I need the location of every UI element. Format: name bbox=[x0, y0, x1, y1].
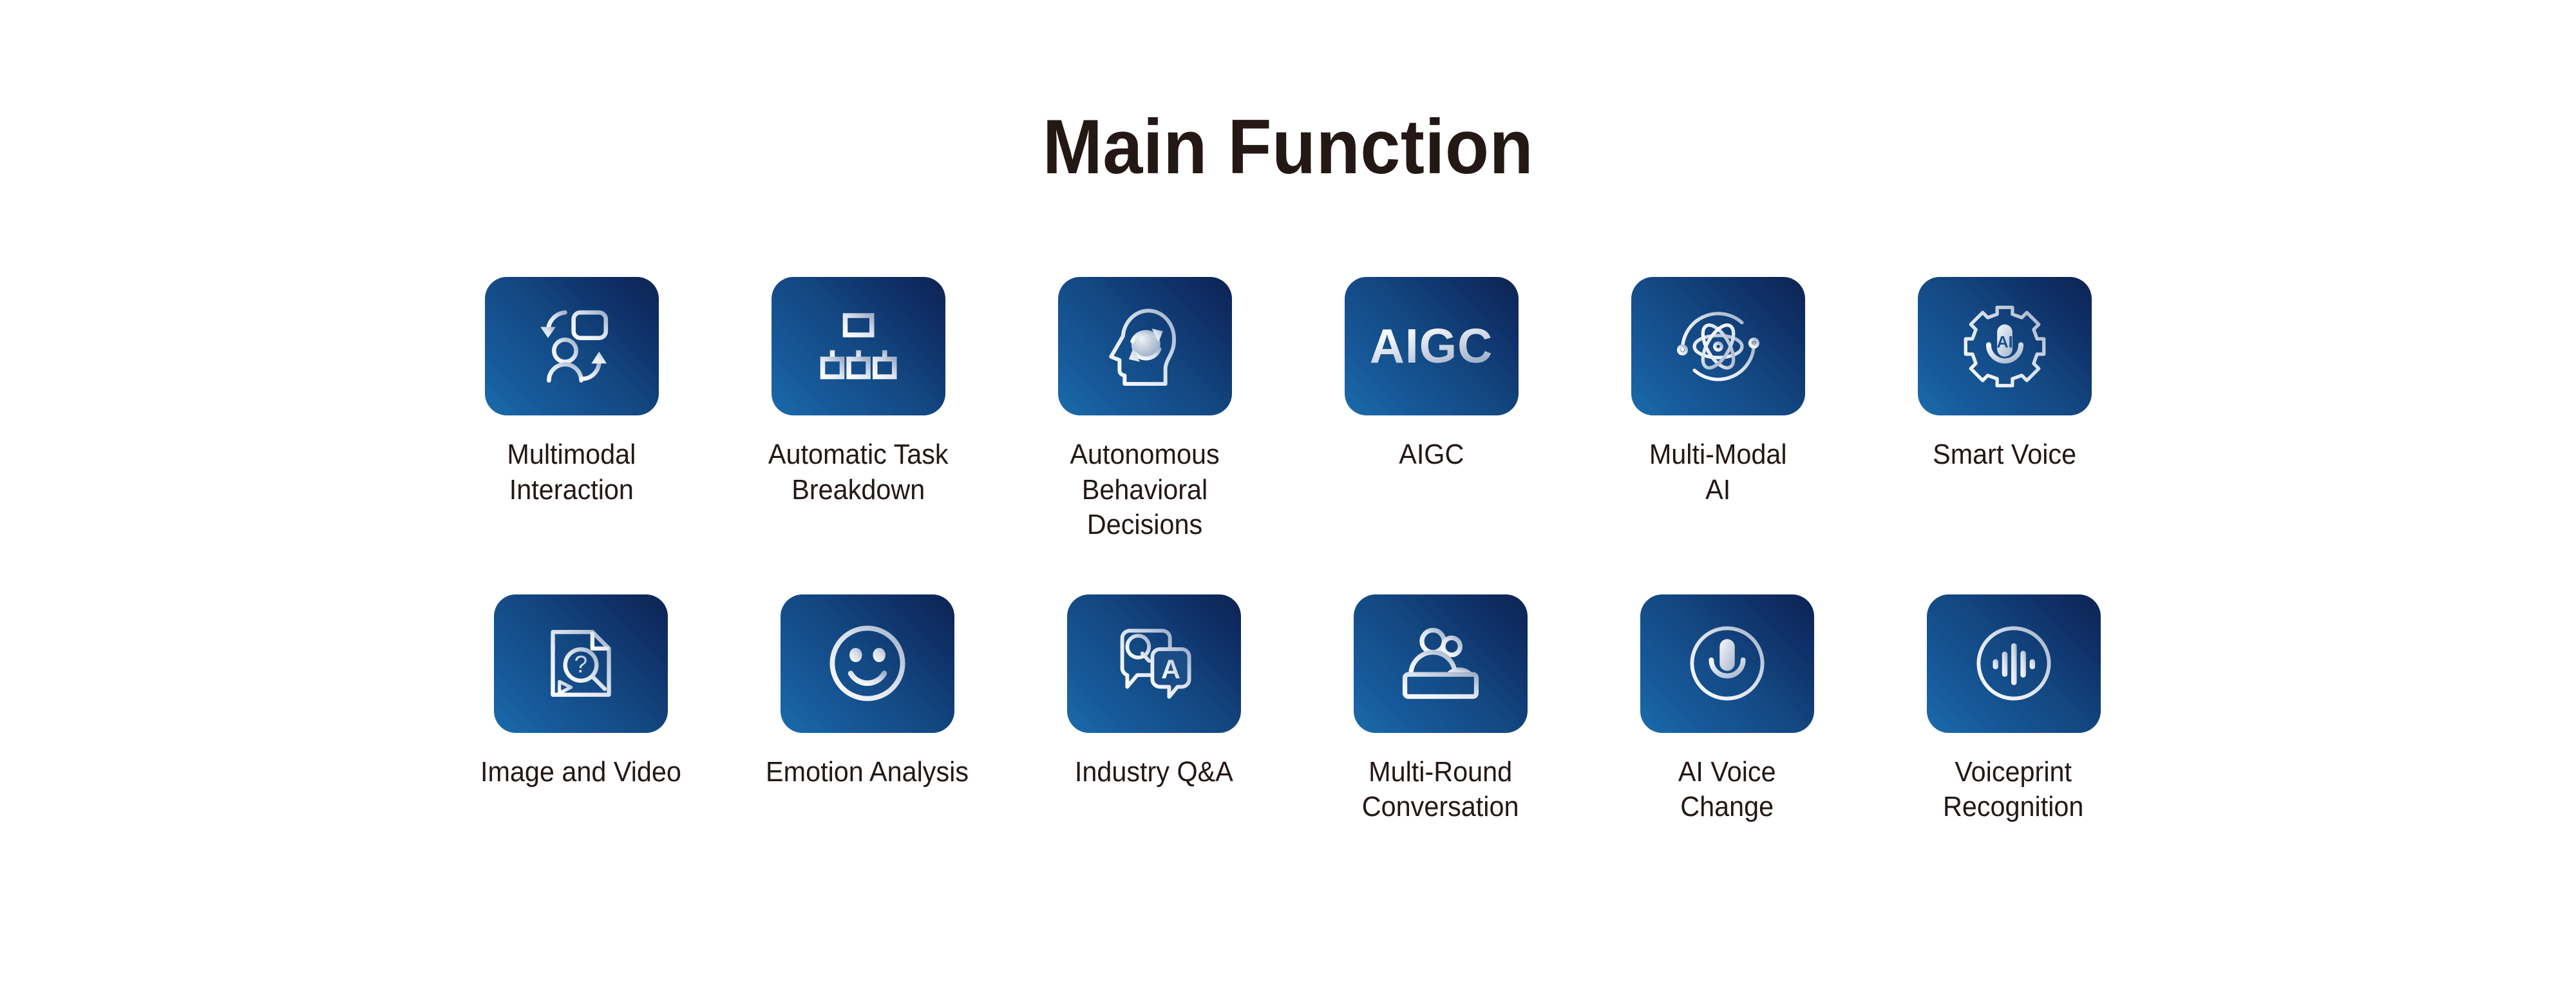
feature-label: Autonomous Behavioral Decisions bbox=[1070, 437, 1219, 543]
feature-card-ai-voice-change[interactable]: AI Voice Change bbox=[1584, 594, 1870, 825]
feature-card-smart-voice[interactable]: AI Smart Voice bbox=[1861, 277, 2148, 473]
feature-label: Smart Voice bbox=[1933, 437, 2076, 473]
atom-orbit-icon bbox=[1676, 304, 1761, 389]
feature-card-autonomous-behavioral-decisions[interactable]: Autonomous Behavioral Decisions bbox=[1001, 277, 1288, 543]
feature-tile[interactable] bbox=[781, 594, 954, 733]
feature-tile[interactable] bbox=[1640, 594, 1814, 733]
feature-label: Automatic Task Breakdown bbox=[768, 437, 949, 508]
feature-tile[interactable] bbox=[1631, 277, 1805, 415]
task-hierarchy-icon bbox=[818, 306, 898, 386]
qa-speech-bubbles-icon: A bbox=[1112, 622, 1196, 705]
feature-tile[interactable]: A bbox=[1067, 594, 1241, 733]
page-title: Main Function bbox=[90, 108, 2486, 185]
svg-text:AI: AI bbox=[1996, 333, 2012, 351]
microphone-circle-icon bbox=[1685, 622, 1769, 705]
feature-card-multi-round-conversation[interactable]: Multi-Round Conversation bbox=[1297, 594, 1584, 825]
feature-card-multi-modal-ai[interactable]: Multi-Modal AI bbox=[1575, 277, 1861, 508]
document-search-video-icon: ? bbox=[540, 622, 622, 705]
feature-tile[interactable]: ? bbox=[494, 594, 668, 733]
feature-card-image-and-video[interactable]: ? Image and Video bbox=[437, 594, 724, 790]
feature-label: Multimodal Interaction bbox=[507, 437, 636, 508]
feature-tile[interactable] bbox=[1927, 594, 2101, 733]
feature-card-emotion-analysis[interactable]: Emotion Analysis bbox=[724, 594, 1010, 790]
feature-card-voiceprint-recognition[interactable]: Voiceprint Recognition bbox=[1870, 594, 2157, 825]
feature-tile[interactable] bbox=[1058, 277, 1232, 415]
feature-card-industry-qa[interactable]: A Industry Q&A bbox=[1010, 594, 1297, 790]
feature-tile[interactable] bbox=[485, 277, 659, 415]
feature-tile[interactable] bbox=[1354, 594, 1528, 733]
head-refresh-icon bbox=[1103, 304, 1188, 389]
feature-card-aigc[interactable]: AIGC AIGC bbox=[1288, 277, 1575, 473]
feature-row-2: ? Image and Video bbox=[18, 594, 2576, 825]
aigc-text-icon: AIGC bbox=[1370, 322, 1493, 370]
feature-label: Industry Q&A bbox=[1075, 755, 1233, 790]
gear-microphone-ai-icon: AI bbox=[1962, 304, 2047, 389]
feature-label: Voiceprint Recognition bbox=[1943, 755, 2083, 825]
svg-text:A: A bbox=[1160, 654, 1180, 685]
feature-label: AI Voice Change bbox=[1678, 755, 1776, 825]
smiley-face-icon bbox=[826, 622, 909, 705]
feature-tile[interactable]: AI bbox=[1918, 277, 2092, 415]
multimodal-interaction-icon bbox=[529, 304, 614, 389]
feature-label: Multi-Modal AI bbox=[1649, 437, 1787, 508]
feature-row-1: Multimodal Interaction bbox=[0, 277, 2576, 543]
feature-label: AIGC bbox=[1399, 437, 1464, 473]
feature-card-automatic-task-breakdown[interactable]: Automatic Task Breakdown bbox=[715, 277, 1001, 508]
svg-text:?: ? bbox=[574, 650, 587, 678]
feature-label: Emotion Analysis bbox=[766, 755, 969, 790]
feature-card-multimodal-interaction[interactable]: Multimodal Interaction bbox=[428, 277, 715, 508]
feature-label: Multi-Round Conversation bbox=[1362, 755, 1519, 825]
feature-tile[interactable] bbox=[772, 277, 945, 415]
feature-tile[interactable]: AIGC bbox=[1345, 277, 1519, 415]
feature-label: Image and Video bbox=[480, 755, 681, 790]
waveform-circle-icon bbox=[1972, 622, 2056, 705]
people-desk-icon bbox=[1398, 621, 1483, 706]
feature-grid: Multimodal Interaction bbox=[0, 277, 2576, 825]
main-function-page: Main Function bbox=[0, 0, 2576, 1006]
